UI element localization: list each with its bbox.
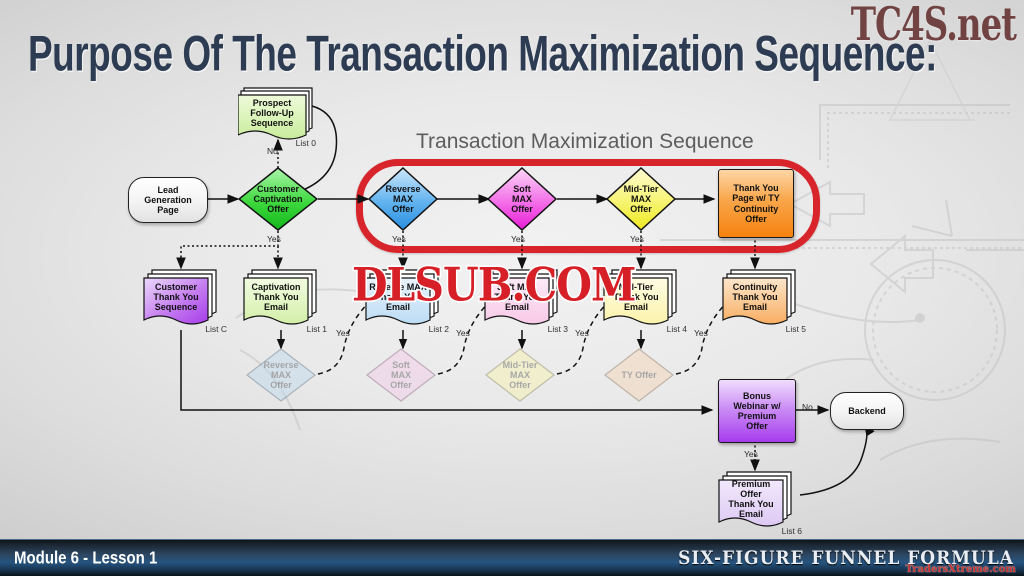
diamond-shape <box>366 348 436 402</box>
diamond-shape <box>485 348 555 402</box>
node-lead-generation-page[interactable]: Lead Generation Page <box>128 177 208 223</box>
edge-label-yes-branch-4: Yes <box>694 328 708 338</box>
node-backend[interactable]: Backend <box>830 392 904 430</box>
node-label: Soft MAX Offer <box>487 167 557 231</box>
node-ghost-soft-max-offer[interactable]: Soft MAX Offer <box>366 348 436 402</box>
diamond-shape <box>246 348 316 402</box>
page-title: Purpose Of The Transaction Maximization … <box>28 26 937 83</box>
node-mid-tier-max-offer[interactable]: Mid-Tier MAX Offer <box>606 167 676 231</box>
edge-label-no-bonus: No <box>802 402 813 412</box>
edge-label-yes-soft: Yes <box>511 234 525 244</box>
footer-bar: Module 6 - Lesson 1 SIX-FIGURE FUNNEL FO… <box>0 539 1024 576</box>
diamond-shape <box>606 167 676 231</box>
node-continuity-thank-you-email[interactable]: Continuity Thank You Email List 5 <box>722 268 804 330</box>
document-stack-icon <box>238 86 318 142</box>
watermark-tc4s: TC4S.net <box>851 0 1016 52</box>
node-prospect-follow-up-sequence[interactable]: Prospect Follow-Up Sequence List 0 <box>238 86 318 142</box>
node-ghost-mid-tier-max-offer[interactable]: Mid-Tier MAX Offer <box>485 348 555 402</box>
node-label: Mid-Tier MAX Offer <box>485 348 555 402</box>
node-label: Customer Captivation Offer <box>238 167 318 231</box>
edge-label-yes-bonus: Yes <box>744 449 758 459</box>
footer-module-label: Module 6 - Lesson 1 <box>14 548 157 568</box>
watermark-tradersxtreme: TradersXtreme.com <box>906 564 1017 575</box>
node-ghost-ty-offer[interactable]: TY Offer <box>604 348 674 402</box>
edge-label-yes-midtier: Yes <box>630 234 644 244</box>
document-stack-icon <box>718 470 800 532</box>
diamond-shape <box>238 167 318 231</box>
node-premium-offer-thank-you-email[interactable]: Premium Offer Thank You Email List 6 <box>718 470 800 532</box>
node-label: Backend <box>831 393 903 429</box>
node-label: Reverse MAX Offer <box>368 167 438 231</box>
diamond-shape <box>487 167 557 231</box>
edge-label-no-captivation: No <box>267 146 278 156</box>
edge-label-yes-branch-1: Yes <box>336 328 350 338</box>
node-captivation-thank-you-email[interactable]: Captivation Thank You Email List 1 <box>243 268 325 330</box>
edge-label-yes-captivation: Yes <box>267 234 281 244</box>
document-stack-icon <box>243 268 325 330</box>
node-label: Reverse MAX Offer <box>246 348 316 402</box>
node-bonus-webinar[interactable]: Bonus Webinar w/ Premium Offer <box>718 379 796 443</box>
node-reverse-max-offer[interactable]: Reverse MAX Offer <box>368 167 438 231</box>
document-stack-icon <box>143 268 225 330</box>
section-caption: Transaction Maximization Sequence <box>416 130 754 154</box>
edge-label-yes-reverse: Yes <box>392 234 406 244</box>
node-thank-you-page[interactable]: Thank You Page w/ TY Continuity Offer <box>718 169 794 238</box>
node-label: TY Offer <box>604 348 674 402</box>
node-label: Thank You Page w/ TY Continuity Offer <box>719 170 793 237</box>
node-label: Mid-Tier MAX Offer <box>606 167 676 231</box>
document-stack-icon <box>722 268 804 330</box>
diamond-shape <box>604 348 674 402</box>
node-soft-max-offer[interactable]: Soft MAX Offer <box>487 167 557 231</box>
node-ghost-reverse-max-offer[interactable]: Reverse MAX Offer <box>246 348 316 402</box>
diamond-shape <box>368 167 438 231</box>
slide-stage: Purpose Of The Transaction Maximization … <box>0 0 1024 576</box>
node-customer-thank-you-sequence[interactable]: Customer Thank You Sequence List C <box>143 268 225 330</box>
watermark-dlsub: DLSUB.COM <box>352 258 635 312</box>
node-label: Lead Generation Page <box>129 178 207 222</box>
node-customer-captivation-offer[interactable]: Customer Captivation Offer <box>238 167 318 231</box>
node-label: Soft MAX Offer <box>366 348 436 402</box>
edge-label-yes-branch-3: Yes <box>575 328 589 338</box>
node-label: Bonus Webinar w/ Premium Offer <box>719 380 795 442</box>
edge-label-yes-branch-2: Yes <box>456 328 470 338</box>
